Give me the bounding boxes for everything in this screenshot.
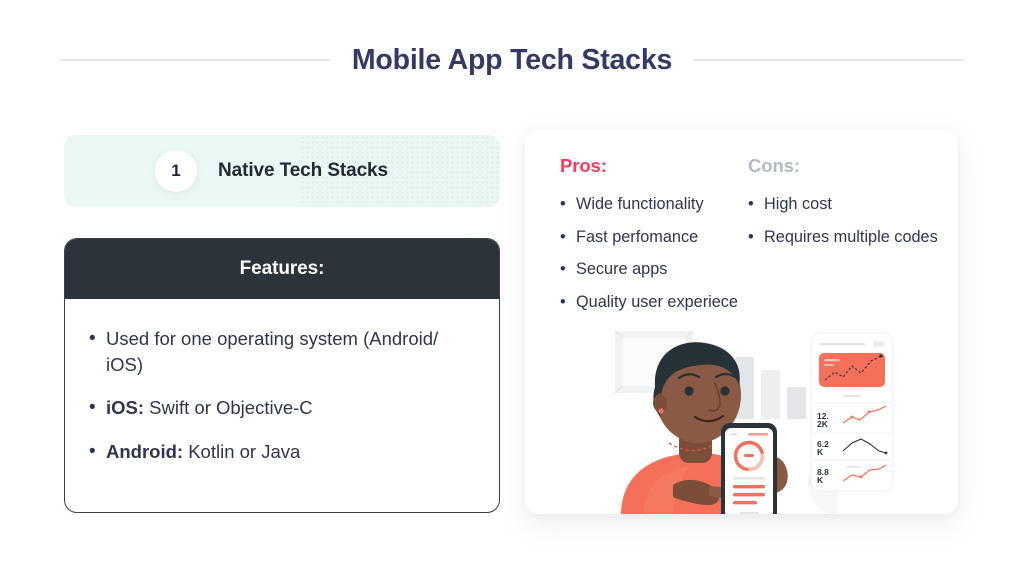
pros-cons-card: Pros: • Wide functionality • Fast perfom… [525, 130, 958, 514]
feature-value: Swift or Objective-C [144, 397, 313, 418]
feature-label: Android: [106, 441, 183, 462]
svg-text:K: K [817, 475, 824, 485]
feature-text: Used for one operating system (Android/ … [106, 326, 473, 377]
pros-text: Fast perfomance [576, 227, 748, 249]
cons-column: Cons: • High cost • Requires multiple co… [748, 155, 940, 324]
feature-value: Kotlin or Java [183, 441, 300, 462]
bullet-icon: • [560, 194, 576, 216]
cons-heading: Cons: [748, 155, 940, 177]
bullet-icon: • [560, 259, 576, 281]
pros-column: Pros: • Wide functionality • Fast perfom… [560, 155, 748, 324]
list-item: • Android: Kotlin or Java [89, 439, 473, 465]
page-title: Mobile App Tech Stacks [352, 44, 672, 77]
list-item: • Quality user experiece [560, 292, 748, 314]
pros-text: Wide functionality [576, 194, 748, 216]
list-item: • Secure apps [560, 259, 748, 281]
pros-text: Quality user experiece [576, 292, 748, 314]
bullet-icon: • [748, 194, 764, 216]
pros-heading: Pros: [560, 155, 748, 177]
smartphone-mockup [721, 423, 777, 514]
title-rule-right [694, 59, 964, 61]
bullet-icon: • [748, 227, 764, 249]
svg-text:K: K [817, 447, 824, 457]
svg-text:2K: 2K [817, 419, 829, 429]
list-item: • Wide functionality [560, 194, 748, 216]
title-rule-left [60, 59, 330, 61]
features-card-header: Features: [65, 239, 499, 299]
pros-cons-columns: Pros: • Wide functionality • Fast perfom… [560, 155, 940, 324]
list-item: • Fast perfomance [560, 227, 748, 249]
illustration-man-holding-phone: 12. 2K 6.2 K 8.8 K [603, 325, 948, 514]
native-tech-stacks-banner[interactable]: 1 Native Tech Stacks [64, 135, 500, 207]
analytics-dashboard-panel: 12. 2K 6.2 K 8.8 K [811, 333, 893, 491]
slide-title-row: Mobile App Tech Stacks [0, 38, 1024, 82]
list-item: • iOS: Swift or Objective-C [89, 395, 473, 421]
list-item: • Requires multiple codes [748, 227, 940, 249]
bullet-icon: • [560, 292, 576, 314]
feature-text: Android: Kotlin or Java [106, 439, 473, 465]
banner-title: Native Tech Stacks [218, 160, 388, 182]
slide-canvas: Mobile App Tech Stacks 1 Native Tech Sta… [0, 0, 1024, 576]
features-list: • Used for one operating system (Android… [65, 299, 499, 464]
cons-text: High cost [764, 194, 940, 216]
cons-text: Requires multiple codes [764, 227, 940, 249]
background-bar-chart [735, 357, 806, 419]
list-item: • Used for one operating system (Android… [89, 326, 473, 377]
feature-label: iOS: [106, 397, 144, 418]
bullet-icon: • [89, 439, 106, 465]
features-card: Features: • Used for one operating syste… [64, 238, 500, 513]
bullet-icon: • [560, 227, 576, 249]
list-item: • High cost [748, 194, 940, 216]
left-column: 1 Native Tech Stacks Features: • Used fo… [64, 135, 500, 513]
bullet-icon: • [89, 395, 106, 421]
feature-text: iOS: Swift or Objective-C [106, 395, 473, 421]
bullet-icon: • [89, 326, 106, 377]
features-heading: Features: [240, 258, 325, 280]
pros-text: Secure apps [576, 259, 748, 281]
step-number-badge: 1 [155, 150, 197, 192]
